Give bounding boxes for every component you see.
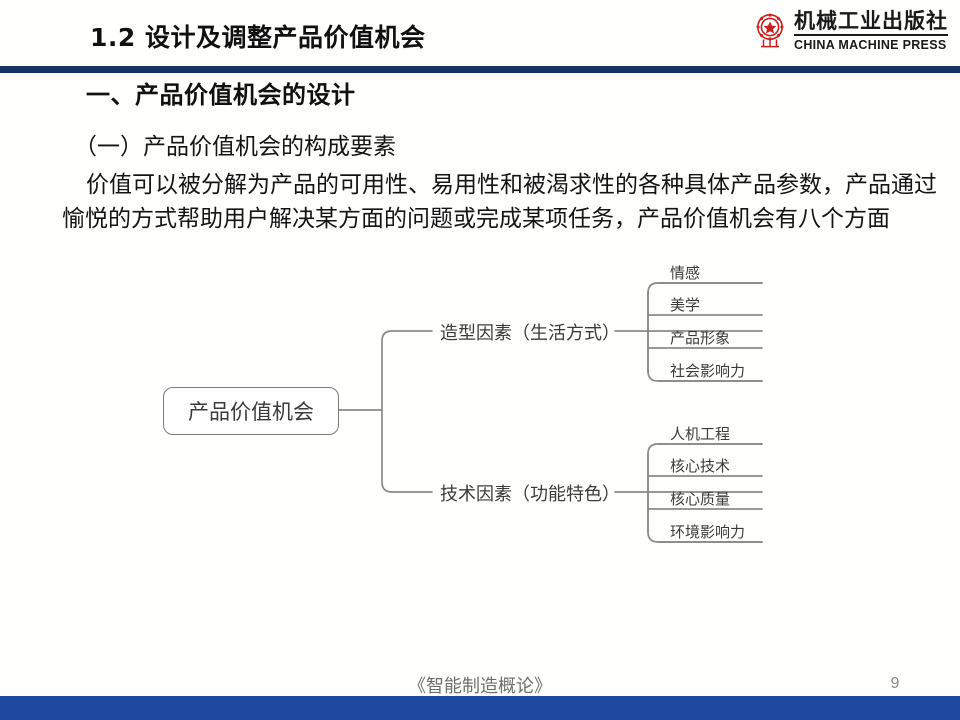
mindmap-root-node[interactable]: 产品价值机会: [163, 387, 339, 435]
slide-canvas: 机械工业出版社 CHINA MACHINE PRESS 1.2 设计及调整产品价…: [0, 0, 960, 720]
mindmap-leaf-node[interactable]: 人机工程: [670, 423, 730, 444]
mindmap-leaf-node[interactable]: 社会影响力: [670, 360, 745, 381]
mindmap-leaf-node[interactable]: 核心技术: [670, 455, 730, 476]
mindmap-leaf-node[interactable]: 情感: [670, 262, 700, 283]
mindmap-leaf-node[interactable]: 美学: [670, 294, 700, 315]
mindmap-nodes: 产品价值机会 造型因素（生活方式） 技术因素（功能特色） 情感 美学 产品形象 …: [0, 0, 960, 720]
footer-page-number: 9: [880, 675, 910, 693]
footer-blue-bar: [0, 696, 960, 720]
mindmap-branch-node-2[interactable]: 技术因素（功能特色）: [440, 480, 620, 506]
footer-book-title: 《智能制造概论》: [0, 672, 960, 698]
mindmap-leaf-node[interactable]: 核心质量: [670, 488, 730, 509]
mindmap-branch-node-1[interactable]: 造型因素（生活方式）: [440, 319, 620, 345]
mindmap-leaf-node[interactable]: 环境影响力: [670, 521, 745, 542]
mindmap-leaf-node[interactable]: 产品形象: [670, 327, 730, 348]
